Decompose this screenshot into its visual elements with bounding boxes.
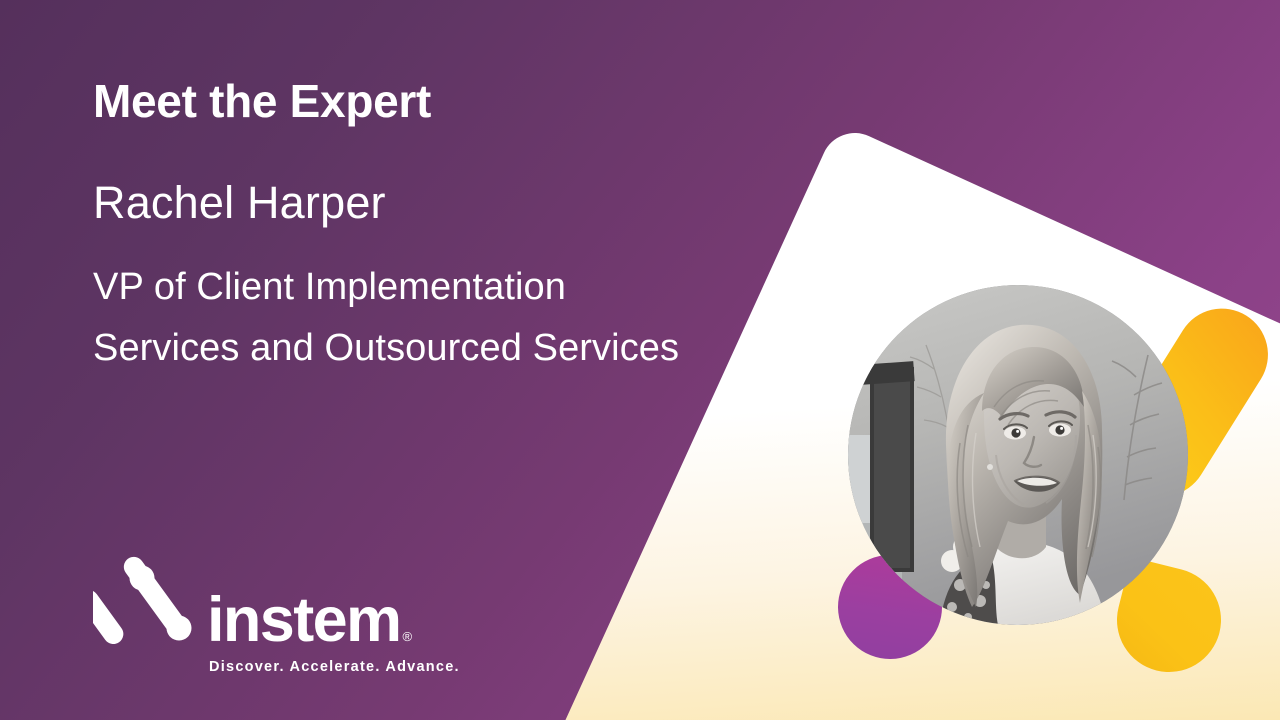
logo-row: instem ®: [93, 556, 473, 649]
registered-trademark-symbol: ®: [400, 630, 412, 647]
slide-canvas: Meet the Expert Rachel Harper VP of Clie…: [0, 0, 1280, 720]
instem-wordmark: instem: [207, 593, 400, 647]
instem-wordmark-wrap: instem ®: [207, 593, 412, 649]
speaker-name: Rachel Harper: [93, 177, 386, 229]
instem-logo: instem ® Discover. Accelerate. Advance.: [93, 556, 473, 675]
instem-tagline: Discover. Accelerate. Advance.: [209, 659, 473, 675]
speaker-role: VP of Client Implementation Services and…: [93, 257, 703, 379]
page-title: Meet the Expert: [93, 76, 431, 127]
instem-mark-icon: [93, 556, 193, 649]
speaker-portrait-photo: [848, 285, 1188, 625]
